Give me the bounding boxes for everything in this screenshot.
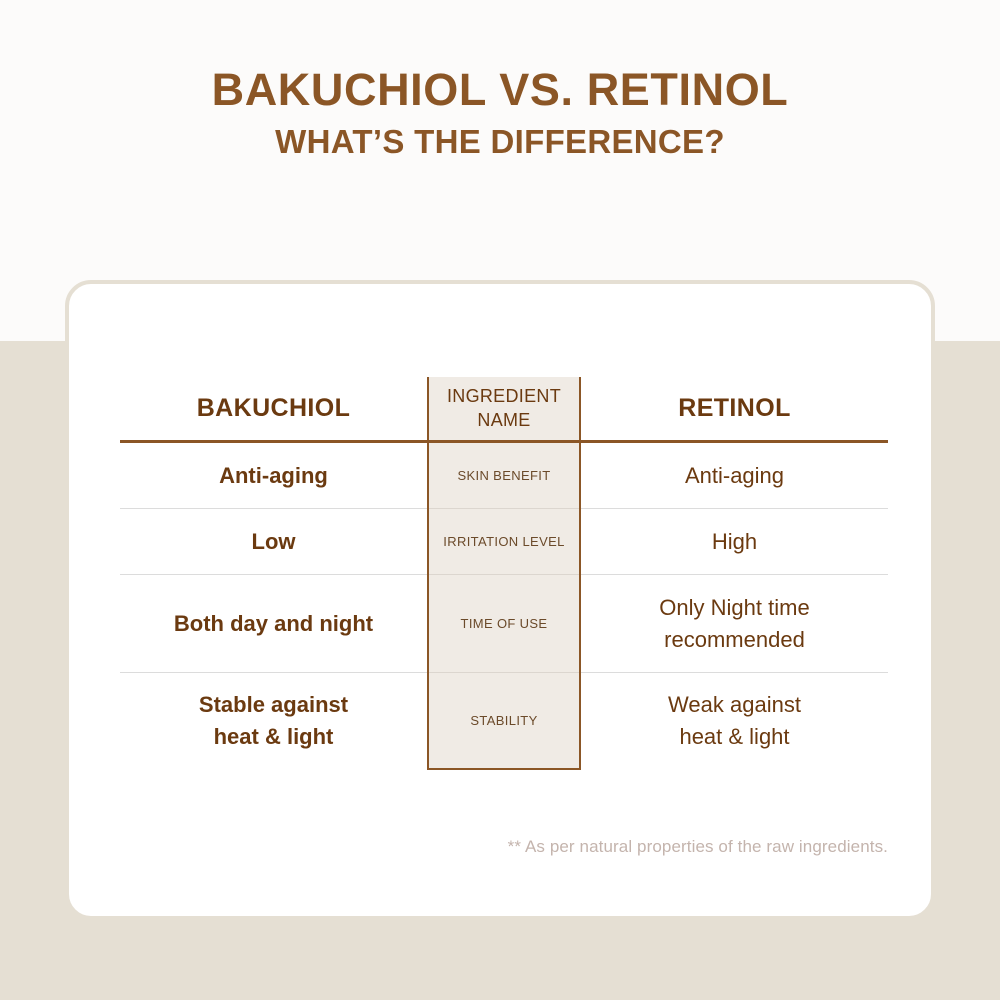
cell-attribute-time-of-use: TIME OF USE <box>428 575 580 673</box>
cell-bakuchiol-stability-line1: Stable against <box>120 689 427 721</box>
cell-retinol-irritation-level: High <box>580 509 888 575</box>
cell-retinol-skin-benefit: Anti-aging <box>580 442 888 509</box>
cell-bakuchiol-stability-line2: heat & light <box>120 721 427 753</box>
cell-retinol-time-of-use: Only Night time recommended <box>580 575 888 673</box>
footnote-text: ** As per natural properties of the raw … <box>120 837 888 857</box>
cell-attribute-irritation-level: IRRITATION LEVEL <box>428 509 580 575</box>
column-header-attribute-line1: INGREDIENT <box>429 385 579 408</box>
cell-retinol-stability: Weak against heat & light <box>580 673 888 770</box>
page-title: BAKUCHIOL VS. RETINOL <box>0 66 1000 115</box>
table-row: Low IRRITATION LEVEL High <box>120 509 888 575</box>
cell-attribute-skin-benefit: SKIN BENEFIT <box>428 442 580 509</box>
page-subtitle: WHAT’S THE DIFFERENCE? <box>0 124 1000 160</box>
column-header-attribute-line2: NAME <box>429 409 579 432</box>
cell-retinol-stability-line1: Weak against <box>581 689 888 721</box>
table-header-row: BAKUCHIOL INGREDIENT NAME RETINOL <box>120 377 888 442</box>
comparison-table: BAKUCHIOL INGREDIENT NAME RETINOL Anti-a… <box>120 377 888 770</box>
cell-bakuchiol-skin-benefit: Anti-aging <box>120 442 428 509</box>
cell-retinol-time-of-use-line2: recommended <box>581 624 888 656</box>
cell-retinol-time-of-use-line1: Only Night time <box>581 592 888 624</box>
table-row: Anti-aging SKIN BENEFIT Anti-aging <box>120 442 888 509</box>
column-header-retinol: RETINOL <box>580 377 888 442</box>
column-header-bakuchiol: BAKUCHIOL <box>120 377 428 442</box>
comparison-card: BAKUCHIOL INGREDIENT NAME RETINOL Anti-a… <box>65 280 935 920</box>
cell-bakuchiol-time-of-use: Both day and night <box>120 575 428 673</box>
cell-bakuchiol-irritation-level: Low <box>120 509 428 575</box>
column-header-attribute: INGREDIENT NAME <box>428 377 580 442</box>
cell-bakuchiol-stability: Stable against heat & light <box>120 673 428 770</box>
cell-attribute-stability: STABILITY <box>428 673 580 770</box>
table-row: Both day and night TIME OF USE Only Nigh… <box>120 575 888 673</box>
cell-retinol-stability-line2: heat & light <box>581 721 888 753</box>
heading-block: BAKUCHIOL VS. RETINOL WHAT’S THE DIFFERE… <box>0 66 1000 160</box>
table-row: Stable against heat & light STABILITY We… <box>120 673 888 770</box>
